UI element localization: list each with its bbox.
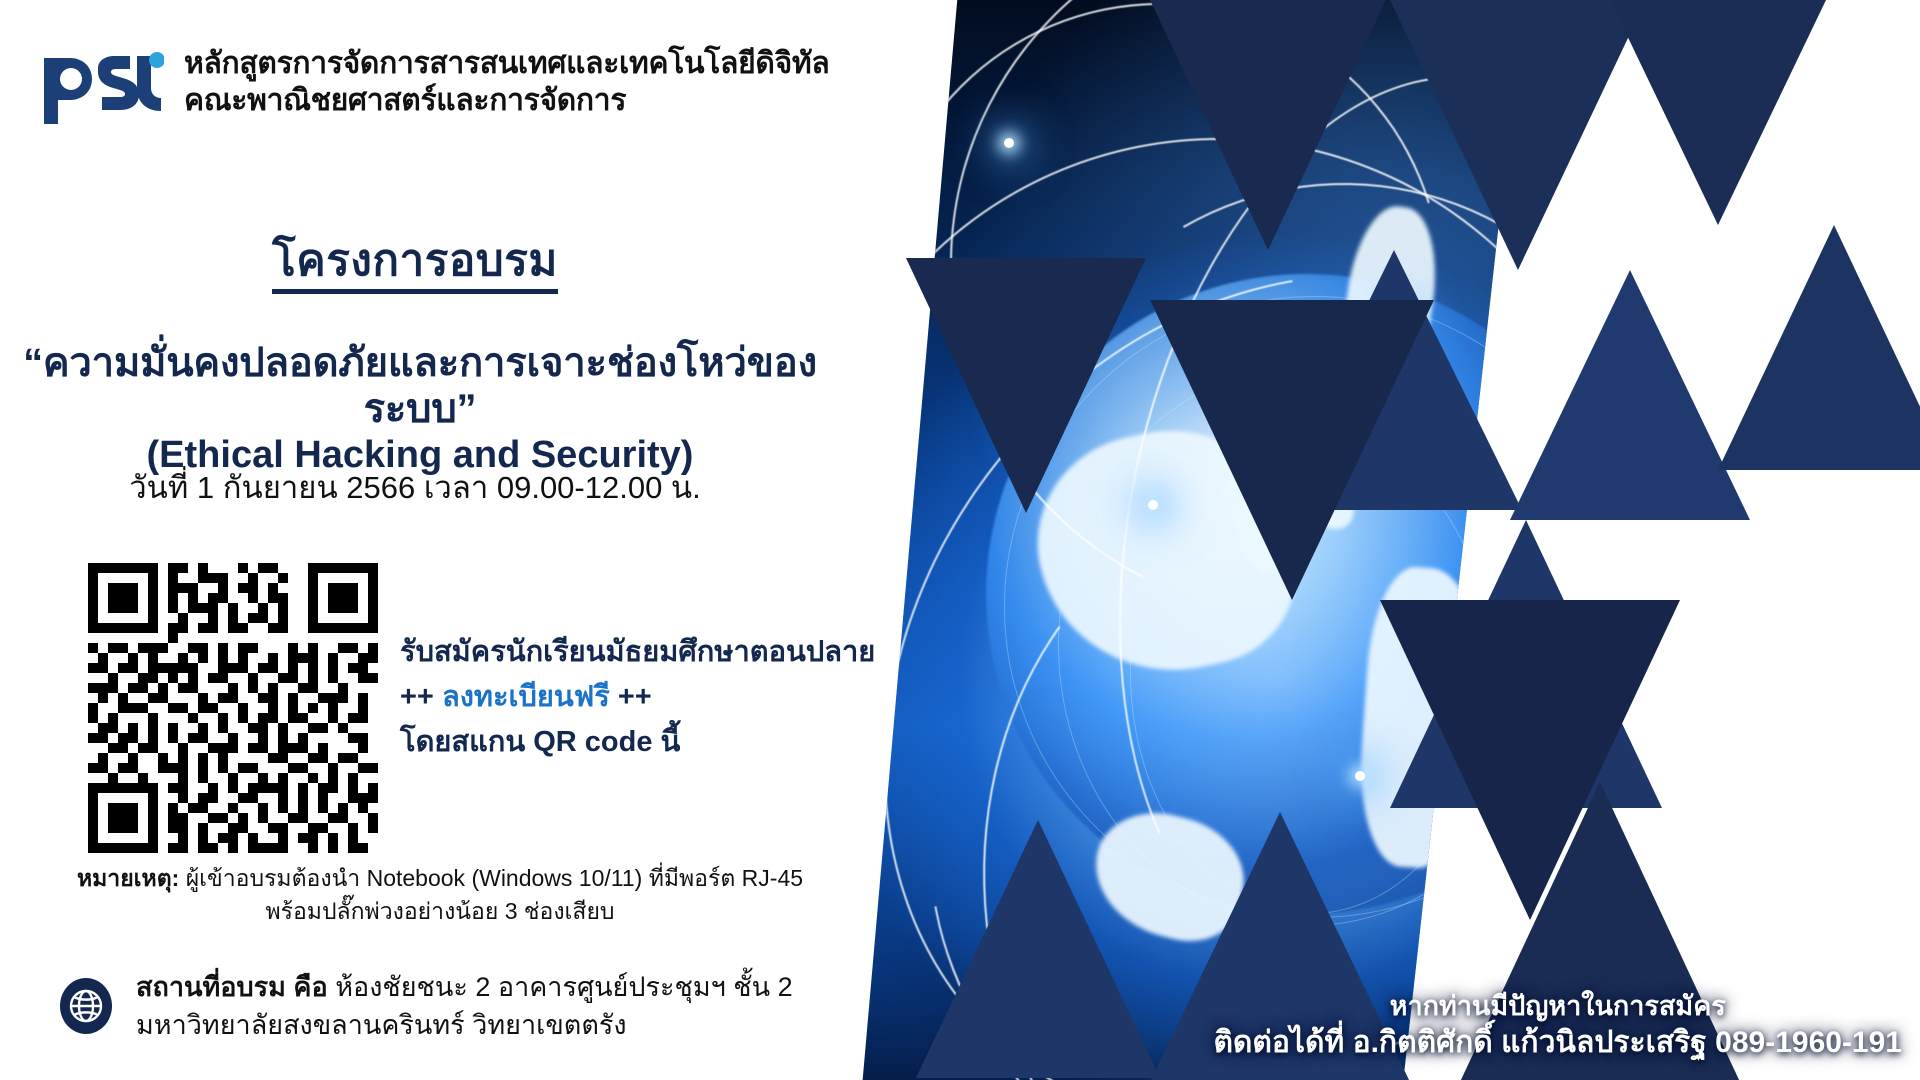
venue-line-1: สถานที่อบรม คือ ห้องชัยชนะ 2 อาคารศูนย์ป… (136, 968, 793, 1006)
org-line-1: หลักสูตรการจัดการสารสนเทศและเทคโนโลยีดิจ… (184, 46, 829, 83)
note-block: หมายเหตุ: ผู้เข้าอบรมต้องนำ Notebook (Wi… (40, 862, 840, 929)
decor-triangle-down (1150, 0, 1386, 250)
psu-logo (38, 40, 164, 136)
network-node (1355, 771, 1365, 781)
note-line-1: หมายเหตุ: ผู้เข้าอบรมต้องนำ Notebook (Wi… (40, 862, 840, 895)
venue-block: สถานที่อบรม คือ ห้องชัยชนะ 2 อาคารศูนย์ป… (58, 968, 793, 1045)
note-text-1: ผู้เข้าอบรมต้องนำ Notebook (Windows 10/1… (186, 865, 803, 891)
topic-title: “ความมั่นคงปลอดภัยและการเจาะช่องโหว่ของร… (0, 340, 840, 480)
decor-triangle-down (1610, 0, 1826, 225)
content-column: หลักสูตรการจัดการสารสนเทศและเทคโนโลยีดิจ… (0, 0, 1020, 1080)
project-title: โครงการอบรม (0, 225, 830, 295)
topic-title-thai: “ความมั่นคงปลอดภัยและการเจาะช่องโหว่ของร… (0, 340, 840, 432)
registration-block: รับสมัครนักเรียนมัธยมศึกษาตอนปลาย ++ ลงท… (400, 630, 1000, 765)
contact-line-2: ติดต่อได้ที่ อ.กิตติศักดิ์ แก้วนิลประเสร… (1213, 1024, 1902, 1062)
org-name: หลักสูตรการจัดการสารสนเทศและเทคโนโลยีดิจ… (184, 40, 829, 119)
venue-room: ห้องชัยชนะ 2 อาคารศูนย์ประชุมฯ ชั้น 2 (335, 972, 792, 1002)
contact-block: หากท่านมีปัญหาในการสมัคร ติดต่อได้ที่ อ.… (1213, 989, 1902, 1062)
decor-triangle-up (1718, 225, 1920, 470)
registration-qr-code[interactable] (88, 563, 378, 853)
note-line-2: พร้อมปลั๊กพ่วงอย่างน้อย 3 ช่องเสียบ (40, 895, 840, 928)
event-datetime: วันที่ 1 กันยายน 2566 เวลา 09.00-12.00 น… (0, 462, 830, 512)
venue-text: สถานที่อบรม คือ ห้องชัยชนะ 2 อาคารศูนย์ป… (136, 968, 793, 1045)
contact-line-1: หากท่านมีปัญหาในการสมัคร (1213, 989, 1902, 1024)
project-title-text: โครงการอบรม (272, 236, 558, 294)
registration-line-3: โดยสแกน QR code นี้ (400, 720, 1000, 765)
org-line-2: คณะพาณิชยศาสตร์และการจัดการ (184, 83, 829, 120)
venue-label: สถานที่อบรม คือ (136, 972, 328, 1002)
registration-line-1: รับสมัครนักเรียนมัธยมศึกษาตอนปลาย (400, 630, 1000, 675)
decor-triangle-up (1510, 270, 1750, 520)
globe-icon (58, 978, 114, 1034)
free-registration-label: ลงทะเบียนฟรี (442, 681, 610, 713)
plus-right: ++ (618, 681, 652, 713)
registration-free-line: ++ ลงทะเบียนฟรี ++ (400, 675, 1000, 720)
venue-line-2: มหาวิทยาลัยสงขลานครินทร์ วิทยาเขตตรัง (136, 1006, 793, 1044)
brand-header: หลักสูตรการจัดการสารสนเทศและเทคโนโลยีดิจ… (38, 40, 829, 136)
psu-logo-dot (149, 52, 164, 68)
note-label: หมายเหตุ: (77, 865, 179, 891)
plus-left: ++ (400, 681, 434, 713)
decor-triangle-down (1390, 0, 1646, 270)
poster-canvas: หลักสูตรการจัดการสารสนเทศและเทคโนโลยีดิจ… (0, 0, 1920, 1080)
